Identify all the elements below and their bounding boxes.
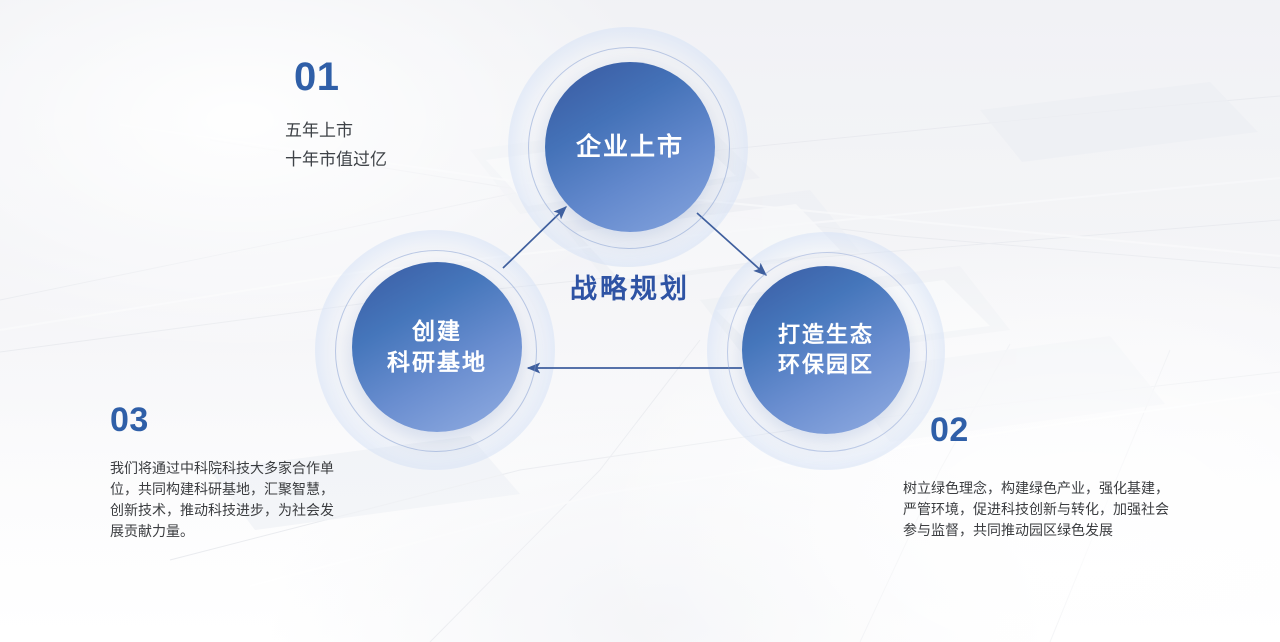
strategy-diagram-canvas: 企业上市 创建 科研基地 打造生态 环保园区 战略规划 01 五年上市 十年市值… [0, 0, 1280, 642]
step-number-01: 01 [294, 57, 340, 97]
step-01-text: 五年上市 十年市值过亿 [285, 116, 387, 174]
step-02-text: 树立绿色理念，构建绿色产业，强化基建， 严管环境，促进科技创新与转化，加强社会 … [903, 478, 1253, 541]
center-title: 战略规划 [548, 267, 712, 306]
node-right-label: 打造生态 环保园区 [778, 320, 874, 380]
step-03-text: 我们将通过中科院科技大多家合作单 位，共同构建科研基地，汇聚智慧， 创新技术，推… [110, 458, 400, 542]
node-eco-park[interactable]: 打造生态 环保园区 [742, 266, 910, 434]
node-enterprise-listing[interactable]: 企业上市 [545, 62, 715, 232]
step-number-03: 03 [110, 403, 149, 437]
node-research-base[interactable]: 创建 科研基地 [352, 262, 522, 432]
step-number-02: 02 [930, 413, 969, 447]
node-left-label: 创建 科研基地 [387, 316, 487, 378]
node-top-label: 企业上市 [576, 131, 684, 163]
